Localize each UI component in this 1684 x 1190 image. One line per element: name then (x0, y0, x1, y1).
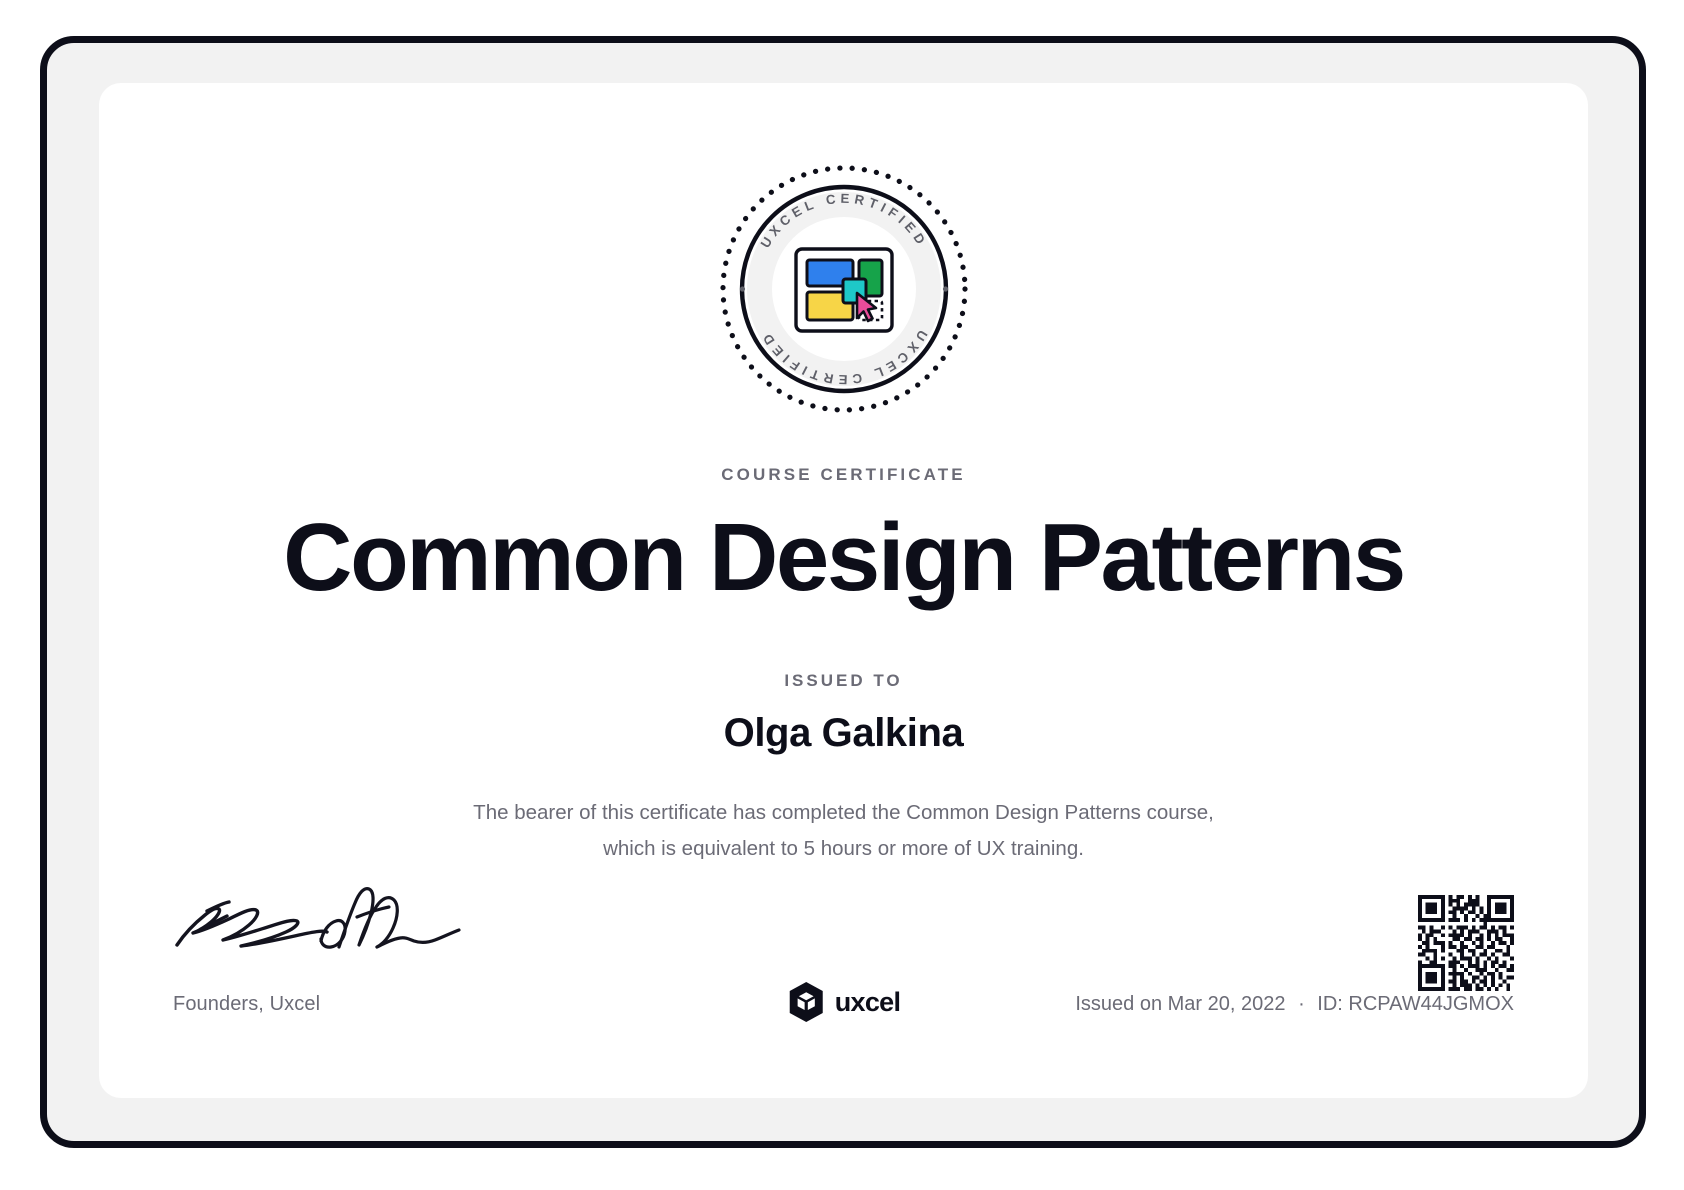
page-title: Common Design Patterns (99, 503, 1588, 613)
eyebrow-issued-to: ISSUED TO (99, 671, 1588, 691)
certificate-outer-frame: UXCEL CERTIFIED UXCEL CERTIFIED (40, 36, 1646, 1148)
certificate-body-text: The bearer of this certificate has compl… (464, 795, 1224, 867)
certificate-footer: Founders, Uxcel uxcel (99, 873, 1588, 1098)
founder-signatures (171, 873, 471, 963)
signature-two (321, 889, 459, 948)
signature-one (177, 902, 327, 946)
meta-separator: · (1291, 993, 1312, 1015)
uxcel-brand-lockup: uxcel (787, 981, 901, 1023)
issued-on-label: Issued on Mar 20, 2022 (1075, 993, 1285, 1015)
eyebrow-course-certificate: COURSE CERTIFICATE (99, 465, 1588, 485)
seal-bullet-left (739, 286, 744, 291)
recipient-name: Olga Galkina (99, 708, 1588, 758)
certificate-id-label: ID: RCPAW44JGMOX (1317, 993, 1514, 1015)
uxcel-wordmark: uxcel (835, 987, 901, 1018)
signature-caption: Founders, Uxcel (173, 993, 320, 1016)
design-patterns-window-icon (796, 249, 892, 331)
seal-bullet-right (942, 286, 947, 291)
certificate-qr-code (1418, 895, 1514, 991)
uxcel-certified-seal: UXCEL CERTIFIED UXCEL CERTIFIED (716, 161, 972, 417)
uxcel-cube-logo (787, 981, 825, 1023)
issued-metadata: Issued on Mar 20, 2022 · ID: RCPAW44JGMO… (1075, 993, 1514, 1016)
certificate-card: UXCEL CERTIFIED UXCEL CERTIFIED (99, 83, 1588, 1098)
